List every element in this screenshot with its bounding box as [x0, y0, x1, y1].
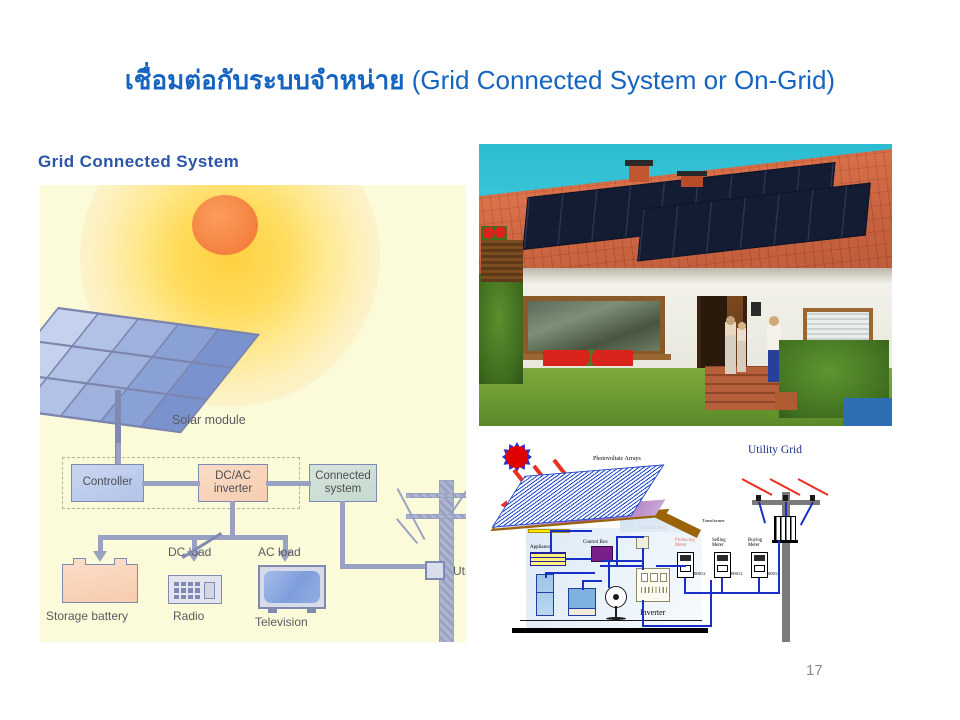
- photo-chimney-cap-1: [625, 160, 653, 166]
- wire-roofstrip-down: [550, 530, 552, 552]
- television-icon: [568, 588, 596, 610]
- control-box-label: Control Box: [583, 540, 608, 545]
- insulator-1: [756, 495, 761, 501]
- block-dc-ac-inverter: DC/AC inverter: [198, 464, 268, 502]
- photo-eave-shadow: [503, 268, 892, 284]
- wire-ac-to-controlbox: [566, 558, 592, 560]
- block-connected-system: Connected system: [309, 464, 377, 502]
- photo-person-3-head: [769, 316, 779, 326]
- inverter-icon: [636, 568, 670, 602]
- house-floor-line: [520, 620, 702, 621]
- page-title-thai: เชื่อมต่อกับระบบจำหน่าย: [125, 66, 405, 96]
- grid-connected-system-figure: Grid Connected System Solar module Contr…: [38, 152, 466, 642]
- photo-chimney-cap-2: [677, 171, 707, 176]
- utility-label: Utility: [453, 564, 466, 578]
- utility-pole-arm-upper: [406, 493, 466, 498]
- sun-icon: [192, 195, 258, 255]
- wire-transformer-down: [778, 540, 780, 582]
- photo-person-2-head: [738, 322, 746, 330]
- wire-inverter-down: [642, 600, 644, 626]
- wire-inverter-bus: [230, 501, 235, 538]
- block-inverter-label-line1: DC/AC: [215, 470, 251, 482]
- wire-fridge-run: [545, 572, 595, 574]
- figure-canvas: Solar module Controller DC/AC inverter C…: [40, 185, 466, 642]
- power-line-3: [798, 478, 829, 496]
- appliance-label: Appliance: [530, 545, 551, 550]
- block-controller-label: Controller: [83, 476, 133, 489]
- wire-connected-to-utility: [340, 564, 430, 569]
- wire-connected-down: [340, 501, 345, 568]
- transformer-label: Transformer: [702, 518, 725, 523]
- page-title: เชื่อมต่อกับระบบจำหน่าย (Grid Connected …: [0, 60, 960, 101]
- drop-wire-1: [758, 502, 766, 524]
- utility-meter-icon: [425, 561, 445, 580]
- block-inverter-label-line2: inverter: [214, 483, 252, 495]
- appliance-air-conditioner-icon: [530, 552, 566, 566]
- house-with-solar-panels-photo: [479, 144, 892, 426]
- transformer-icon: [774, 516, 796, 542]
- grid-tied-schematic-figure: Utility Grid Photovoltaic Arrays Junctio…: [490, 440, 870, 645]
- fan-hub: [613, 594, 619, 600]
- figure-heading: Grid Connected System: [38, 152, 239, 172]
- storage-battery-icon: [62, 564, 138, 603]
- television-stand: [568, 608, 596, 616]
- radio-label: Radio: [173, 609, 204, 623]
- selling-meter-reading: 00012: [731, 571, 742, 576]
- television-icon: [258, 565, 326, 609]
- photo-flower-pot: [775, 392, 797, 410]
- wire-meter-feed-in: [600, 565, 644, 567]
- photo-chimney-1: [629, 164, 649, 182]
- photo-door-opening: [701, 296, 727, 376]
- photo-flower-bed: [543, 350, 633, 366]
- wire-pv-top: [616, 536, 644, 538]
- producing-meter-reading: 00012: [694, 571, 705, 576]
- photo-balcony: [481, 240, 523, 282]
- photo-balcony-flowers: [481, 226, 507, 240]
- drop-wire-3: [800, 502, 814, 526]
- insulator-3: [810, 495, 815, 501]
- producing-meter-label-line2: Meter: [675, 543, 686, 548]
- page-title-english: (Grid Connected System or On-Grid): [412, 65, 835, 95]
- photo-shrub-left: [479, 274, 523, 384]
- block-controller: Controller: [71, 464, 144, 502]
- ac-load-label: AC load: [258, 545, 301, 559]
- transformer-base: [772, 540, 798, 543]
- television-label: Television: [255, 615, 308, 629]
- photo-person-1: [725, 322, 736, 374]
- photo-living-room-window: [523, 296, 665, 356]
- buying-meter-label-line2: Meter: [748, 543, 759, 548]
- page-number: 17: [806, 662, 823, 679]
- wire-tv-run: [582, 580, 602, 582]
- wire-inverter-to-ground-bus: [642, 625, 712, 627]
- power-line-1: [742, 478, 773, 496]
- photovoltaic-arrays-label: Photovoltaic Arrays: [593, 456, 641, 462]
- wire-producing-to-selling: [684, 592, 722, 594]
- ground-line: [512, 628, 708, 633]
- wire-buying-to-transformer: [758, 592, 780, 594]
- photo-pool: [843, 398, 892, 426]
- utility-grid-label: Utility Grid: [748, 444, 802, 456]
- wire-roofstrip-run: [550, 530, 592, 532]
- photo-wall-lamp: [751, 302, 761, 316]
- junction-box-label: Junction Box: [638, 525, 667, 531]
- wire-junction-to-inverter: [642, 548, 644, 570]
- refrigerator-icon: [536, 574, 554, 616]
- radio-icon: [168, 575, 222, 604]
- producing-meter-label: Producing Meter: [675, 538, 695, 548]
- wire-fridge-drop: [545, 572, 547, 578]
- wire-inverter-to-connected: [266, 481, 311, 486]
- block-connected-label-line1: Connected: [315, 470, 371, 482]
- buying-meter-icon: [751, 552, 768, 578]
- wire-controller-to-inverter: [142, 481, 200, 486]
- solar-module-label: Solar module: [172, 413, 246, 427]
- photo-chimney-2: [681, 175, 703, 187]
- selling-meter-icon: [714, 552, 731, 578]
- block-connected-label-line2: system: [325, 483, 361, 495]
- photo-person-1-head: [726, 316, 735, 325]
- buying-meter-label: Buying Meter: [748, 538, 762, 548]
- insulator-2: [783, 495, 788, 501]
- storage-battery-label: Storage battery: [46, 609, 128, 623]
- refrigerator-divider: [536, 592, 554, 593]
- photo-person-2: [737, 328, 746, 372]
- sun-icon: [502, 442, 532, 472]
- wire-to-producing-meter: [656, 565, 686, 567]
- wire-house-return: [710, 580, 712, 626]
- wire-selling-to-buying: [721, 592, 759, 594]
- selling-meter-label: Selling Meter: [712, 538, 726, 548]
- inverter-label: Inverter: [640, 608, 665, 617]
- selling-meter-label-line2: Meter: [712, 543, 723, 548]
- arrow-to-battery-icon: [93, 551, 107, 562]
